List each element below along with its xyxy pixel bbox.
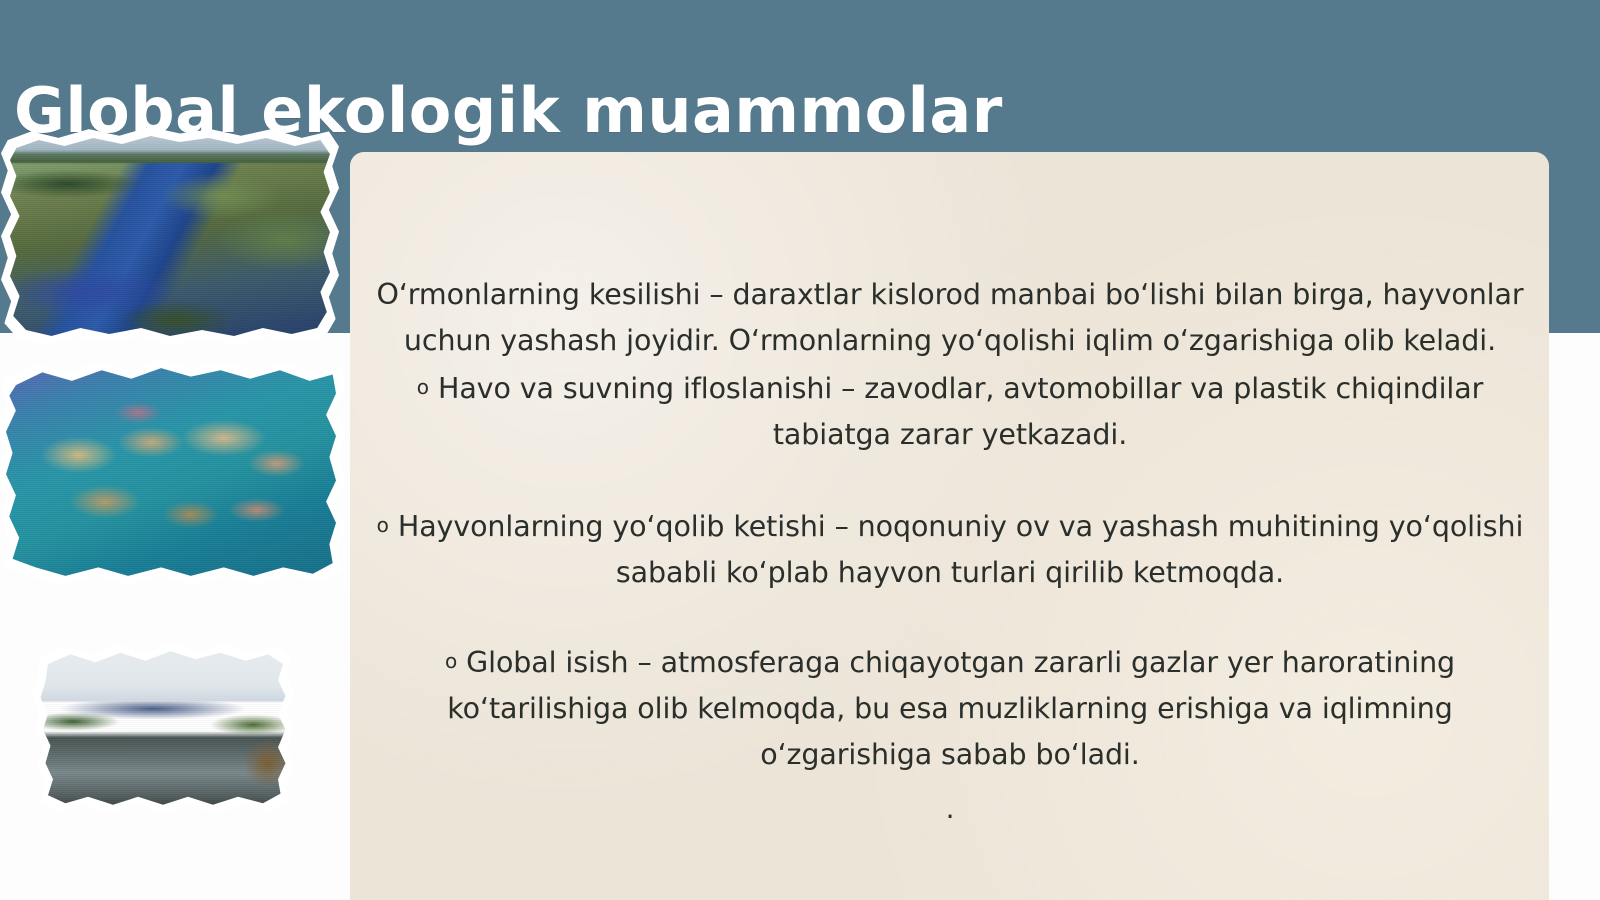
photo-grain-overlay <box>38 648 288 808</box>
photo-mountain-lake-reflection <box>38 648 288 808</box>
photo-aerial-river-landscape <box>10 136 330 336</box>
paragraph-global-warming: o Global isish – atmosferaga chiqayotgan… <box>372 638 1528 778</box>
photo-coral-reef-underwater <box>6 366 336 578</box>
paragraph-deforestation: O‘rmonlarning kesilishi – daraxtlar kisl… <box>372 272 1528 364</box>
photo-image-mountain-lake <box>38 648 288 808</box>
photo-grain-overlay <box>6 366 336 578</box>
bullet-icon: o <box>445 649 457 673</box>
paragraph-deforestation-text: O‘rmonlarning kesilishi – daraxtlar kisl… <box>377 278 1524 357</box>
paragraph-extinction: o Hayvonlarning yo‘qolib ketishi – noqon… <box>372 502 1528 596</box>
paragraph-pollution: o Havo va suvning ifloslanishi – zavodla… <box>372 364 1528 458</box>
paragraph-pollution-text: Havo va suvning ifloslanishi – zavodlar,… <box>429 372 1483 451</box>
photo-grain-overlay <box>10 136 330 336</box>
photo-image-aerial-river <box>10 136 330 336</box>
photo-image-coral-reef <box>6 366 336 578</box>
paragraph-extinction-text: Hayvonlarning yo‘qolib ketishi – noqonun… <box>389 510 1523 589</box>
trailing-period: . <box>372 800 1528 818</box>
body-text-block: O‘rmonlarning kesilishi – daraxtlar kisl… <box>372 272 1528 818</box>
paragraph-global-warming-text: Global isish – atmosferaga chiqayotgan z… <box>447 646 1455 771</box>
bullet-icon: o <box>377 513 389 537</box>
slide-canvas: Global ekologik muammolar O‘rmonlarning … <box>0 0 1600 900</box>
bullet-icon: o <box>417 375 429 399</box>
